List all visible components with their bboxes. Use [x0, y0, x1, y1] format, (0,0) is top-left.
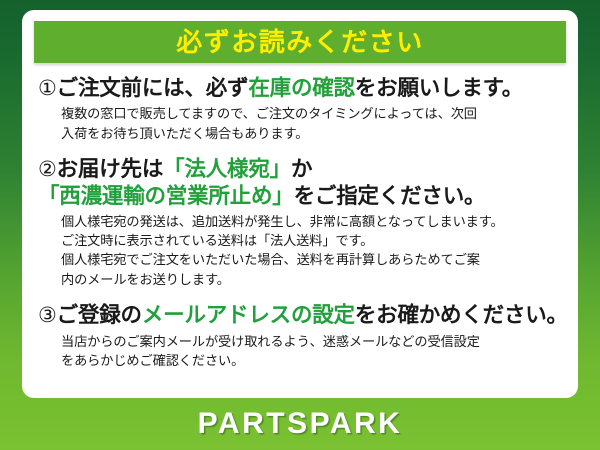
body-line: 個人様宅宛でご注文をいただいた場合、送料を再計算しあらためてご案 [61, 250, 562, 269]
body-line: 個人様宅宛の発送は、追加送料が発生し、非常に高額となってしまいます。 [61, 212, 562, 231]
notice-list: ①ご注文前には、必ず在庫の確認をお願いします。 複数の窓口で販売してますので、ご… [34, 75, 566, 370]
notice-poster: 必ずお読みください ①ご注文前には、必ず在庫の確認をお願いします。 複数の窓口で… [0, 0, 600, 450]
headline-text-mid: か [291, 157, 312, 181]
notice-body: 複数の窓口で販売してますので、ご注文のタイミングによっては、次回 入荷をお待ち頂… [38, 104, 562, 143]
notice-headline: ②お届け先は「法人様宛」か「西濃運輸の営業所止め」をご指定ください。 [38, 156, 562, 208]
brand-logo-text: PARTSPARK [198, 409, 403, 439]
notice-headline: ③ご登録のメールアドレスの設定をお確かめください。 [38, 302, 562, 328]
body-line: ご注文時に表示されている送料は「法人送料」です。 [61, 231, 562, 250]
notice-body: 個人様宅宛の発送は、追加送料が発生し、非常に高額となってしまいます。 ご注文時に… [38, 212, 562, 290]
headline-highlight: メールアドレスの設定 [142, 303, 355, 327]
notice-card: 必ずお読みください ①ご注文前には、必ず在庫の確認をお願いします。 複数の窓口で… [22, 10, 578, 398]
body-line: 内のメールをお送りします。 [61, 270, 562, 289]
notice-item-1: ①ご注文前には、必ず在庫の確認をお願いします。 複数の窓口で販売してますので、ご… [38, 75, 562, 143]
body-line: をあらかじめご確認ください。 [61, 351, 562, 370]
headline-highlight: 在庫の確認 [248, 76, 355, 100]
headline-highlight: 「法人様宛」 [163, 157, 291, 181]
body-line: 複数の窓口で販売してますので、ご注文のタイミングによっては、次回 [61, 104, 562, 123]
notice-item-2: ②お届け先は「法人様宛」か「西濃運輸の営業所止め」をご指定ください。 個人様宅宛… [38, 156, 562, 289]
body-line: 当店からのご案内メールが受け取れるよう、迷惑メールなどの受信設定 [61, 332, 562, 351]
footer-bar: PARTSPARK [0, 398, 600, 450]
page-title: 必ずお読みください [176, 29, 424, 55]
notice-headline: ①ご注文前には、必ず在庫の確認をお願いします。 [38, 75, 562, 101]
notice-body: 当店からのご案内メールが受け取れるよう、迷惑メールなどの受信設定 をあらかじめご… [38, 332, 562, 371]
body-line: 入荷をお待ち頂いただく場合もあります。 [61, 124, 562, 143]
headline-highlight-2: 「西濃運輸の営業所止め」 [38, 184, 294, 208]
headline-text-pre: ご注文前には、必ず [57, 76, 249, 100]
item-number-2: ② [38, 158, 57, 181]
header-band: 必ずお読みください [34, 21, 566, 63]
headline-text-post: をご指定ください。 [294, 184, 486, 208]
item-number-3: ③ [38, 304, 57, 327]
headline-text-post: をお願いします。 [355, 76, 523, 100]
item-number-1: ① [38, 77, 57, 100]
headline-text-post: をお確かめください。 [355, 303, 568, 327]
notice-item-3: ③ご登録のメールアドレスの設定をお確かめください。 当店からのご案内メールが受け… [38, 302, 562, 370]
headline-text-pre: お届け先は [57, 157, 164, 181]
headline-text-pre: ご登録の [57, 303, 142, 327]
